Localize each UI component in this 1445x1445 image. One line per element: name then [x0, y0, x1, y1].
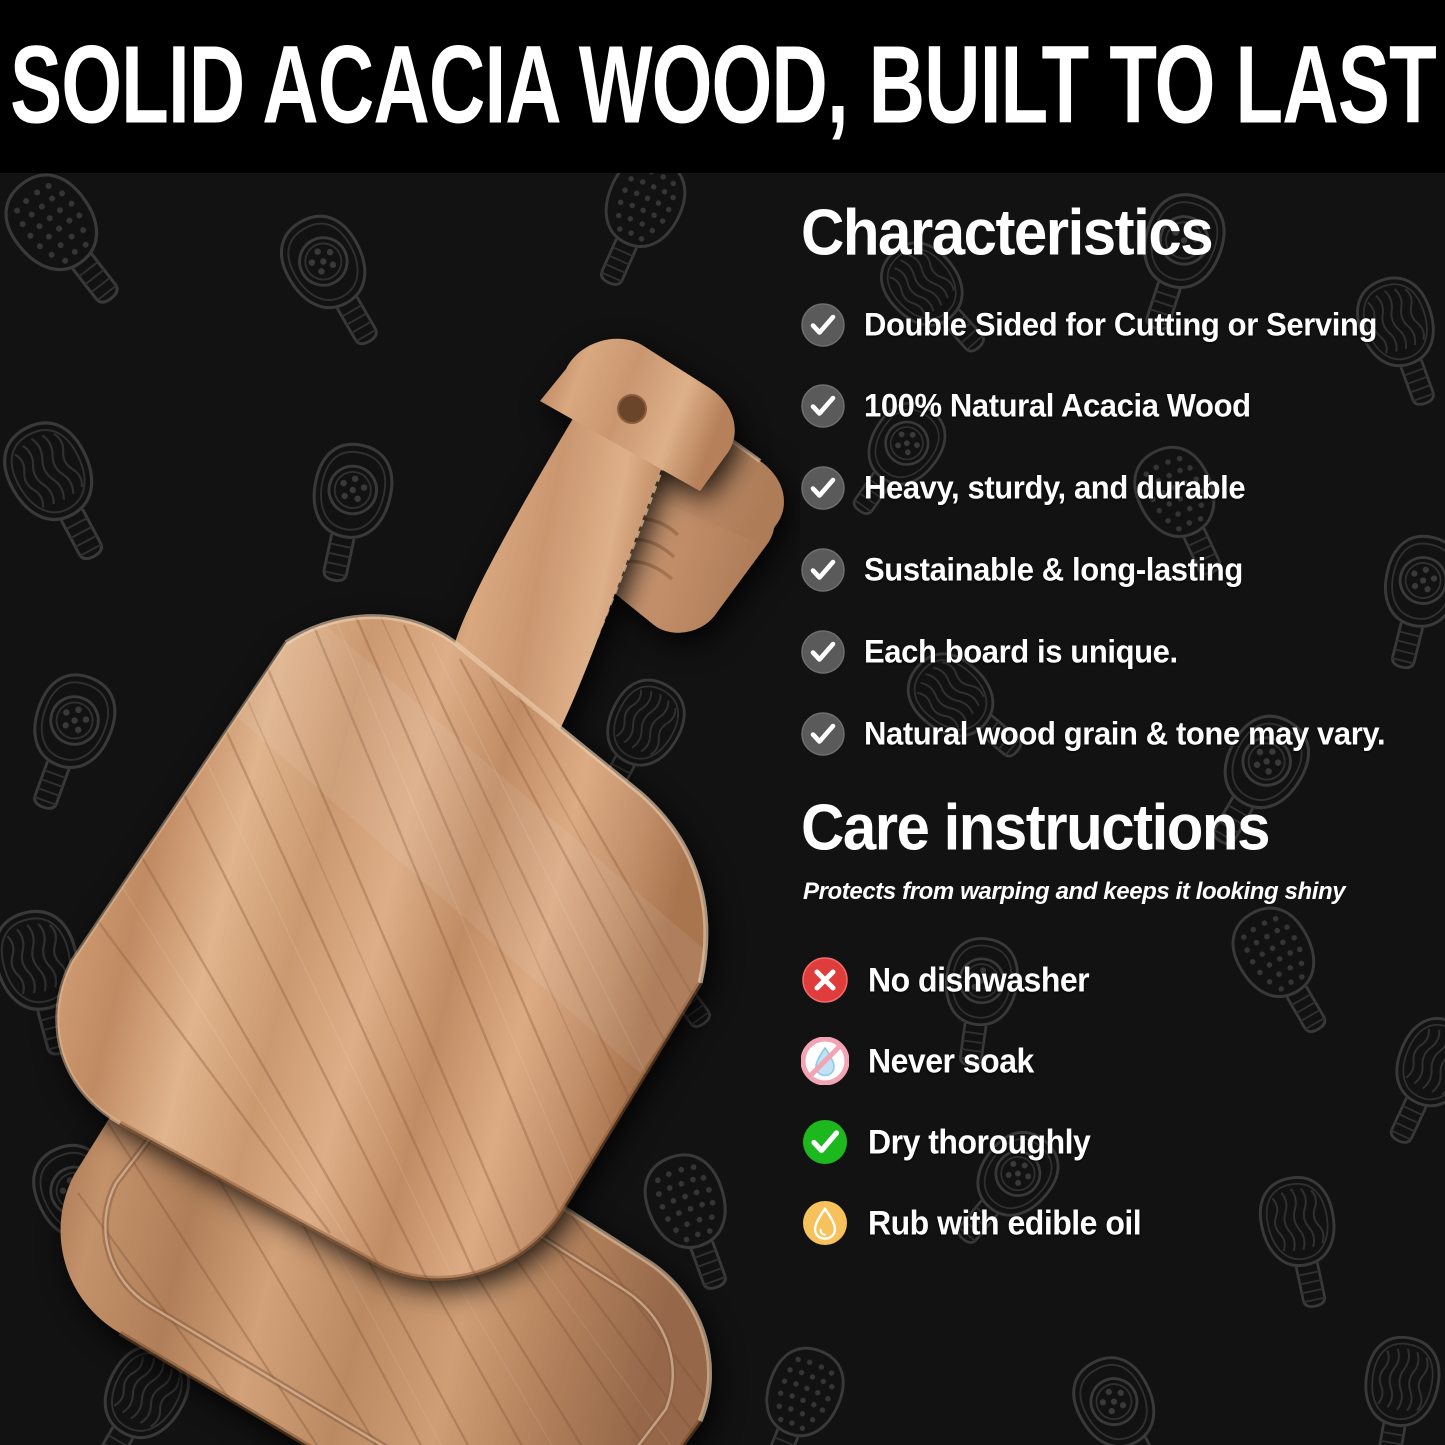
- check-icon: [801, 303, 845, 347]
- characteristic-row: Double Sided for Cutting or Serving: [801, 303, 1377, 347]
- characteristic-label: Natural wood grain & tone may vary.: [864, 715, 1385, 753]
- header-banner: SOLID ACACIA WOOD, BUILT TO LAST: [0, 0, 1445, 173]
- characteristic-label: Each board is unique.: [864, 633, 1178, 671]
- characteristic-row: Sustainable & long-lasting: [801, 548, 1243, 592]
- care-heading: Care instructions: [801, 796, 1269, 861]
- check-icon: [801, 712, 845, 756]
- characteristic-row: Each board is unique.: [801, 630, 1178, 674]
- check-icon: [801, 384, 845, 428]
- care-row: Dry thoroughly: [801, 1118, 1090, 1166]
- check-circle-icon: [801, 1118, 849, 1166]
- cross-circle-icon: [801, 956, 849, 1004]
- characteristic-row: Natural wood grain & tone may vary.: [801, 712, 1385, 756]
- care-label: No dishwasher: [868, 960, 1089, 999]
- infographic-page: SOLID ACACIA WOOD, BUILT TO LAST: [0, 0, 1445, 1445]
- characteristic-label: Double Sided for Cutting or Serving: [864, 306, 1377, 344]
- check-icon: [801, 630, 845, 674]
- care-row: Never soak: [801, 1037, 1034, 1085]
- page-title: SOLID ACACIA WOOD, BUILT TO LAST: [10, 34, 1436, 139]
- care-label: Rub with edible oil: [868, 1203, 1141, 1242]
- care-label: Dry thoroughly: [868, 1122, 1090, 1161]
- oil-drop-icon: [801, 1199, 849, 1247]
- characteristics-heading: Characteristics: [801, 201, 1212, 266]
- care-row: Rub with edible oil: [801, 1199, 1141, 1247]
- characteristic-label: Heavy, sturdy, and durable: [864, 469, 1245, 507]
- check-icon: [801, 466, 845, 510]
- characteristic-label: 100% Natural Acacia Wood: [864, 387, 1251, 425]
- info-column: Characteristics Double Sided for Cutting…: [795, 173, 1445, 1445]
- check-icon: [801, 548, 845, 592]
- care-label: Never soak: [868, 1041, 1034, 1080]
- care-subtitle: Protects from warping and keeps it looki…: [803, 878, 1345, 906]
- characteristic-row: 100% Natural Acacia Wood: [801, 384, 1251, 428]
- characteristic-label: Sustainable & long-lasting: [864, 551, 1243, 589]
- no-water-icon: [801, 1037, 849, 1085]
- characteristic-row: Heavy, sturdy, and durable: [801, 466, 1245, 510]
- care-row: No dishwasher: [801, 956, 1089, 1004]
